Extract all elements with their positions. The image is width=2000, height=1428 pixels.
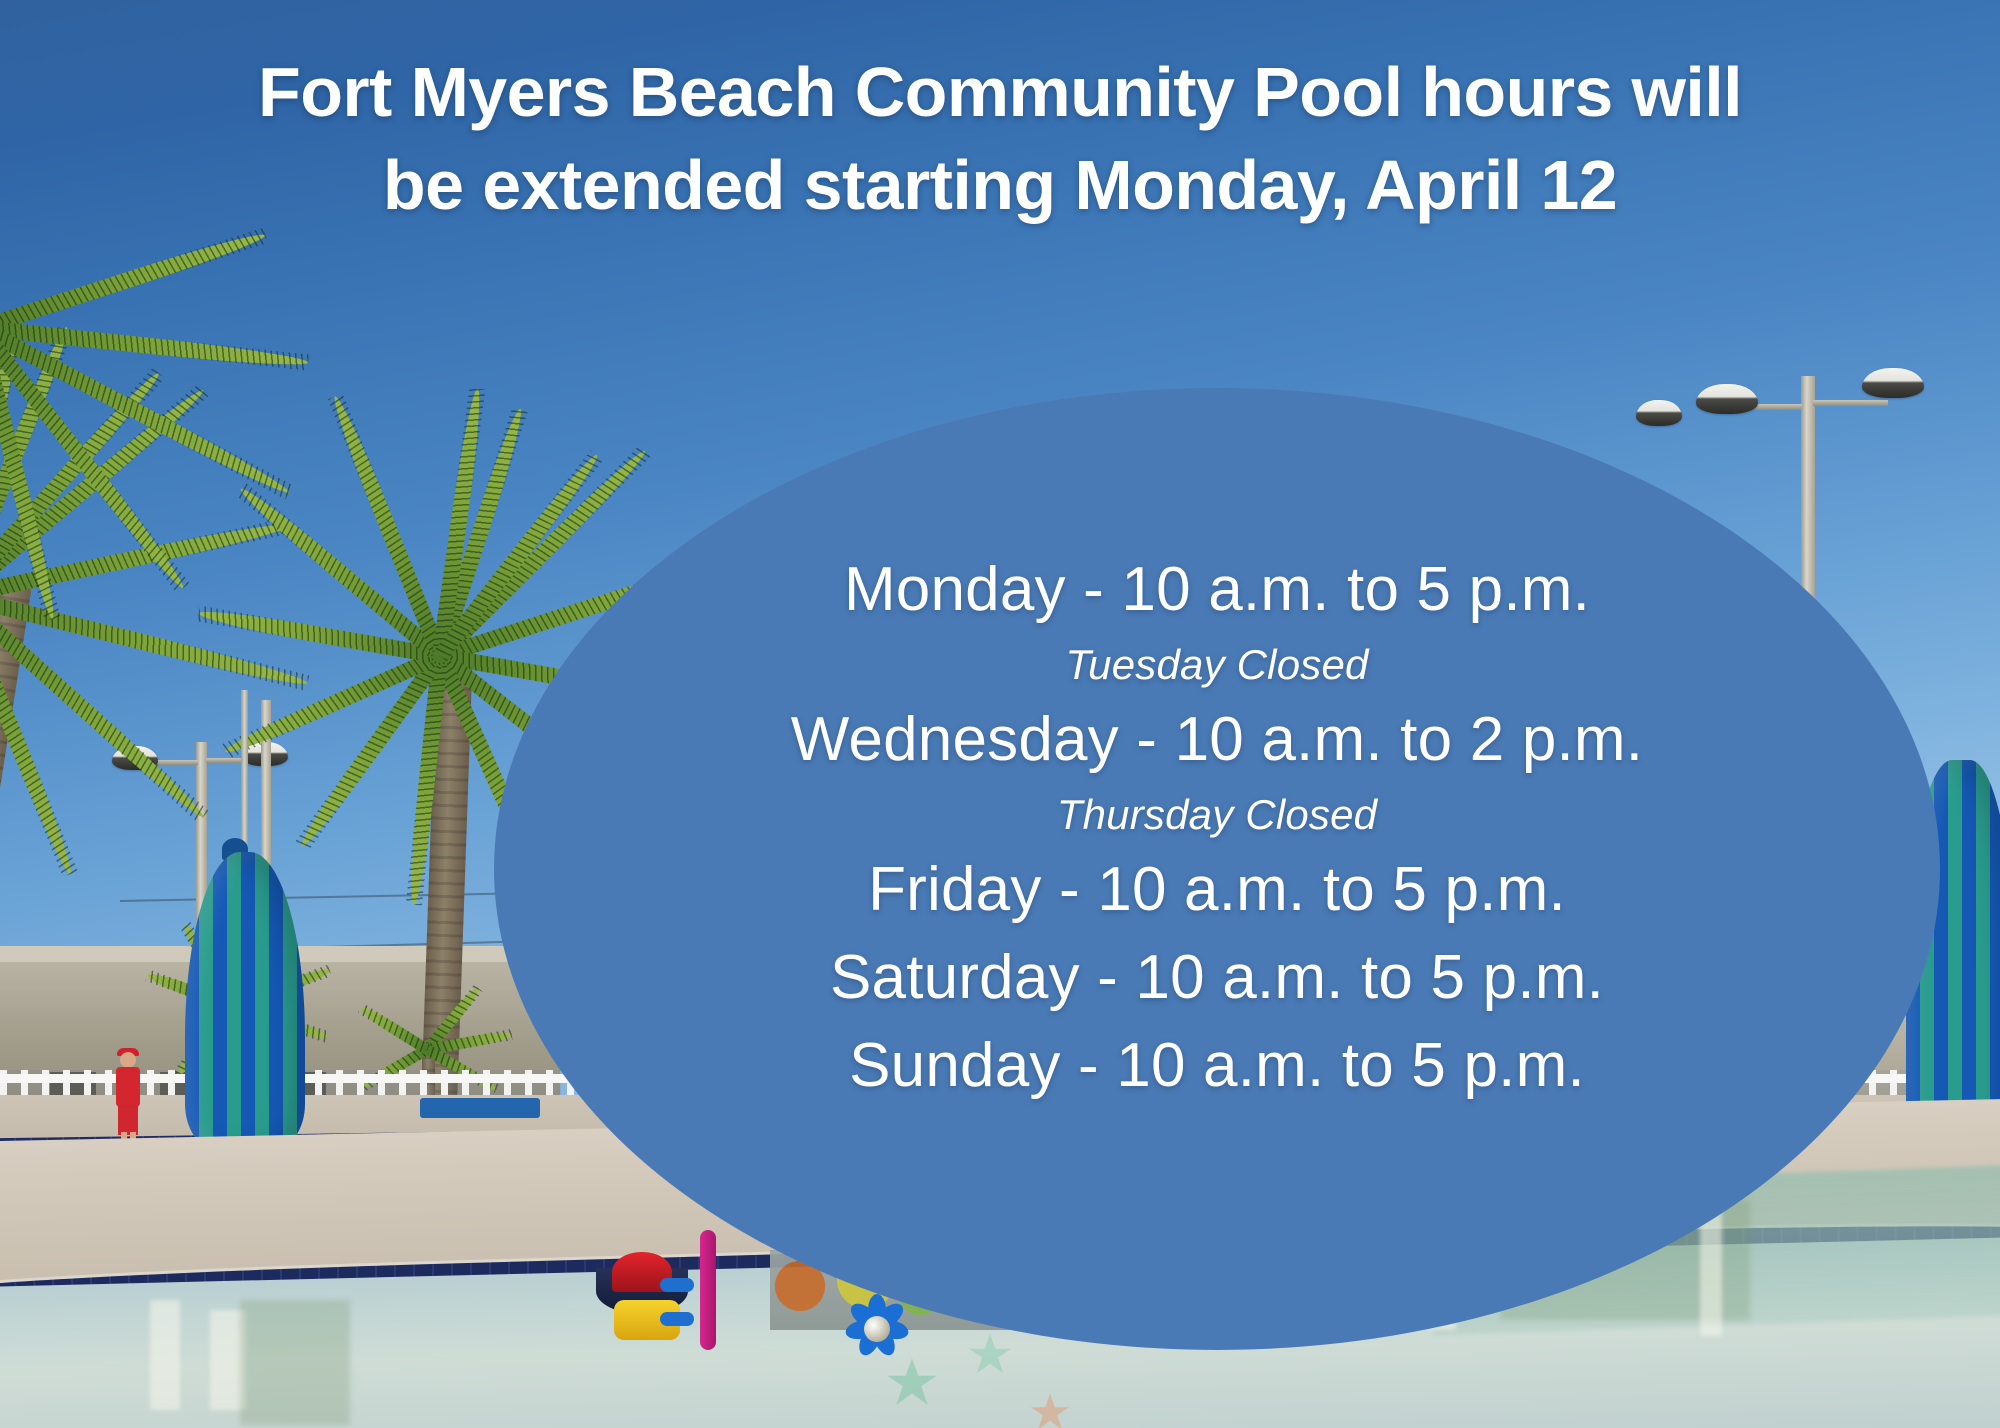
lamp-head-icon <box>1696 384 1758 414</box>
page-title: Fort Myers Beach Community Pool hours wi… <box>0 46 2000 232</box>
poster: Fort Myers Beach Community Pool hours wi… <box>0 0 2000 1428</box>
lamp-head-icon <box>1862 368 1924 398</box>
hours-row-tuesday: Tuesday Closed <box>494 634 1940 696</box>
splash-pad-water-feature <box>700 1230 716 1350</box>
starfish-icon <box>968 1332 1012 1376</box>
lamp-head-icon <box>1636 400 1682 426</box>
pool-water-reflection <box>150 1300 180 1410</box>
hours-row-thursday: Thursday Closed <box>494 784 1940 846</box>
pool-water-reflection <box>240 1300 350 1425</box>
lifeguard <box>108 1046 148 1142</box>
pool-hours-list: Monday - 10 a.m. to 5 p.m. Tuesday Close… <box>494 546 1940 1110</box>
hours-row-monday: Monday - 10 a.m. to 5 p.m. <box>494 546 1940 634</box>
hours-row-saturday: Saturday - 10 a.m. to 5 p.m. <box>494 934 1940 1022</box>
starfish-icon <box>886 1356 938 1408</box>
hours-row-friday: Friday - 10 a.m. to 5 p.m. <box>494 846 1940 934</box>
hours-row-wednesday: Wednesday - 10 a.m. to 2 p.m. <box>494 696 1940 784</box>
starfish-icon <box>1030 1392 1070 1428</box>
hours-row-sunday: Sunday - 10 a.m. to 5 p.m. <box>494 1022 1940 1110</box>
